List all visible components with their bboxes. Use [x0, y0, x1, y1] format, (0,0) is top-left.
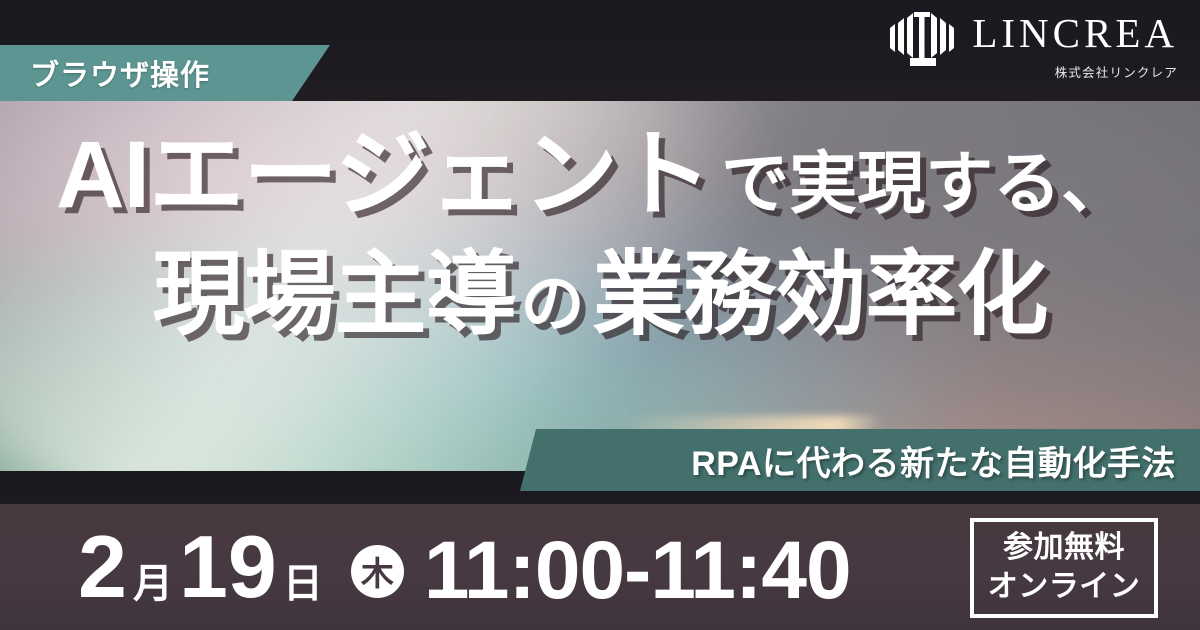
- headline-efficiency: 業務効率化: [593, 244, 1048, 346]
- event-weekday-badge: 木: [351, 545, 404, 598]
- brand-logo: LINCREA 株式会社リンクレア: [886, 8, 1178, 81]
- lincrea-monogram-icon: [886, 8, 958, 70]
- event-day: 19: [179, 523, 277, 611]
- category-badge: ブラウザ操作: [0, 45, 330, 101]
- headline-realize: で実現する、: [721, 146, 1129, 222]
- event-month-unit: 月: [133, 564, 173, 604]
- headline-line-1: AIエージェントで実現する、: [0, 128, 1200, 223]
- subtitle-text: RPAに代わる新たな自動化手法: [691, 436, 1176, 485]
- headline-agent: エージェント: [149, 122, 711, 228]
- footer: 2 月 19 日 木 11:00-11:40 参加無料 オンライン: [0, 504, 1200, 630]
- webinar-banner: LINCREA 株式会社リンクレア ブラウザ操作 AIエージェントで実現する、 …: [0, 0, 1200, 630]
- free-badge-line-2: オンライン: [988, 569, 1141, 606]
- headline-line-2: 現場主導の業務効率化: [0, 249, 1200, 341]
- headline-genba: 現場主導: [152, 244, 516, 346]
- subtitle-band: RPAに代わる新たな自動化手法: [520, 429, 1200, 491]
- category-badge-label: ブラウザ操作: [30, 52, 210, 94]
- event-day-unit: 日: [283, 564, 323, 604]
- headline: AIエージェントで実現する、 現場主導の業務効率化: [0, 128, 1200, 341]
- brand-company: 株式会社リンクレア: [1055, 62, 1178, 81]
- free-online-badge: 参加無料 オンライン: [970, 518, 1158, 618]
- headline-ai: AI: [56, 122, 149, 228]
- free-badge-line-1: 参加無料: [1003, 530, 1125, 567]
- event-time: 11:00-11:40: [424, 530, 851, 612]
- brand-name: LINCREA: [972, 13, 1178, 54]
- event-datetime: 2 月 19 日 木 11:00-11:40: [78, 523, 851, 611]
- headline-no: の: [521, 268, 585, 340]
- event-month: 2: [78, 523, 127, 611]
